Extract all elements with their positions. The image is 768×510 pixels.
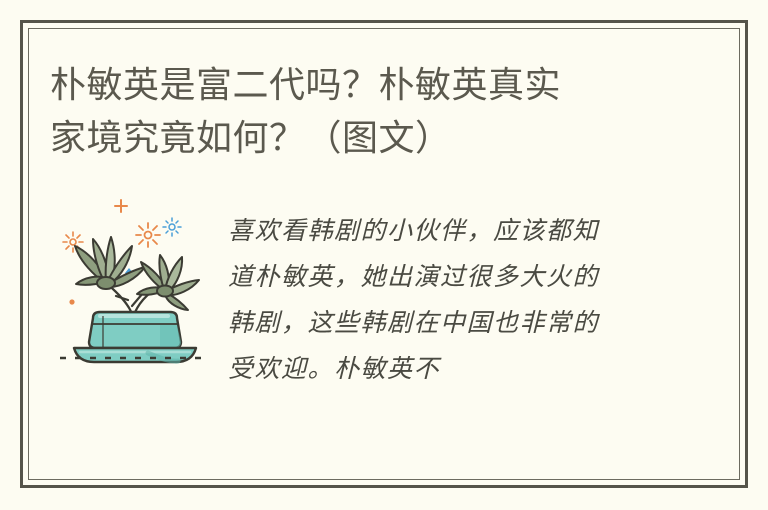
article-excerpt: 喜欢看韩剧的小伙伴，应该都知 道朴敏英，她出演过很多大火的 韩剧，这些韩剧在中国… bbox=[228, 208, 658, 392]
plant-saucer bbox=[74, 348, 196, 362]
sparkle-cross-icon bbox=[115, 200, 127, 212]
page-title-line-1: 朴敏英是富二代吗？朴敏英真实 bbox=[50, 58, 690, 111]
plant-pot bbox=[89, 312, 181, 348]
article-excerpt-line-4: 受欢迎。朴敏英不 bbox=[228, 346, 658, 392]
sparkle-starburst-blue-icon bbox=[163, 218, 181, 236]
plant-illustration bbox=[48, 190, 224, 370]
plant-leaf-cluster-right bbox=[137, 255, 199, 310]
sparkle-starburst-right-icon bbox=[136, 223, 160, 247]
article-excerpt-line-2: 道朴敏英，她出演过很多大火的 bbox=[228, 254, 658, 300]
page-title: 朴敏英是富二代吗？朴敏英真实 家境究竟如何？（图文） bbox=[50, 58, 690, 164]
article-excerpt-line-1: 喜欢看韩剧的小伙伴，应该都知 bbox=[228, 208, 658, 254]
article-card: 朴敏英是富二代吗？朴敏英真实 家境究竟如何？（图文） bbox=[0, 0, 768, 510]
page-title-line-2: 家境究竟如何？（图文） bbox=[50, 111, 690, 164]
sparkle-dot-orange-icon bbox=[69, 299, 74, 304]
plant-leaf-cluster-left bbox=[75, 237, 145, 289]
article-excerpt-line-3: 韩剧，这些韩剧在中国也非常的 bbox=[228, 300, 658, 346]
